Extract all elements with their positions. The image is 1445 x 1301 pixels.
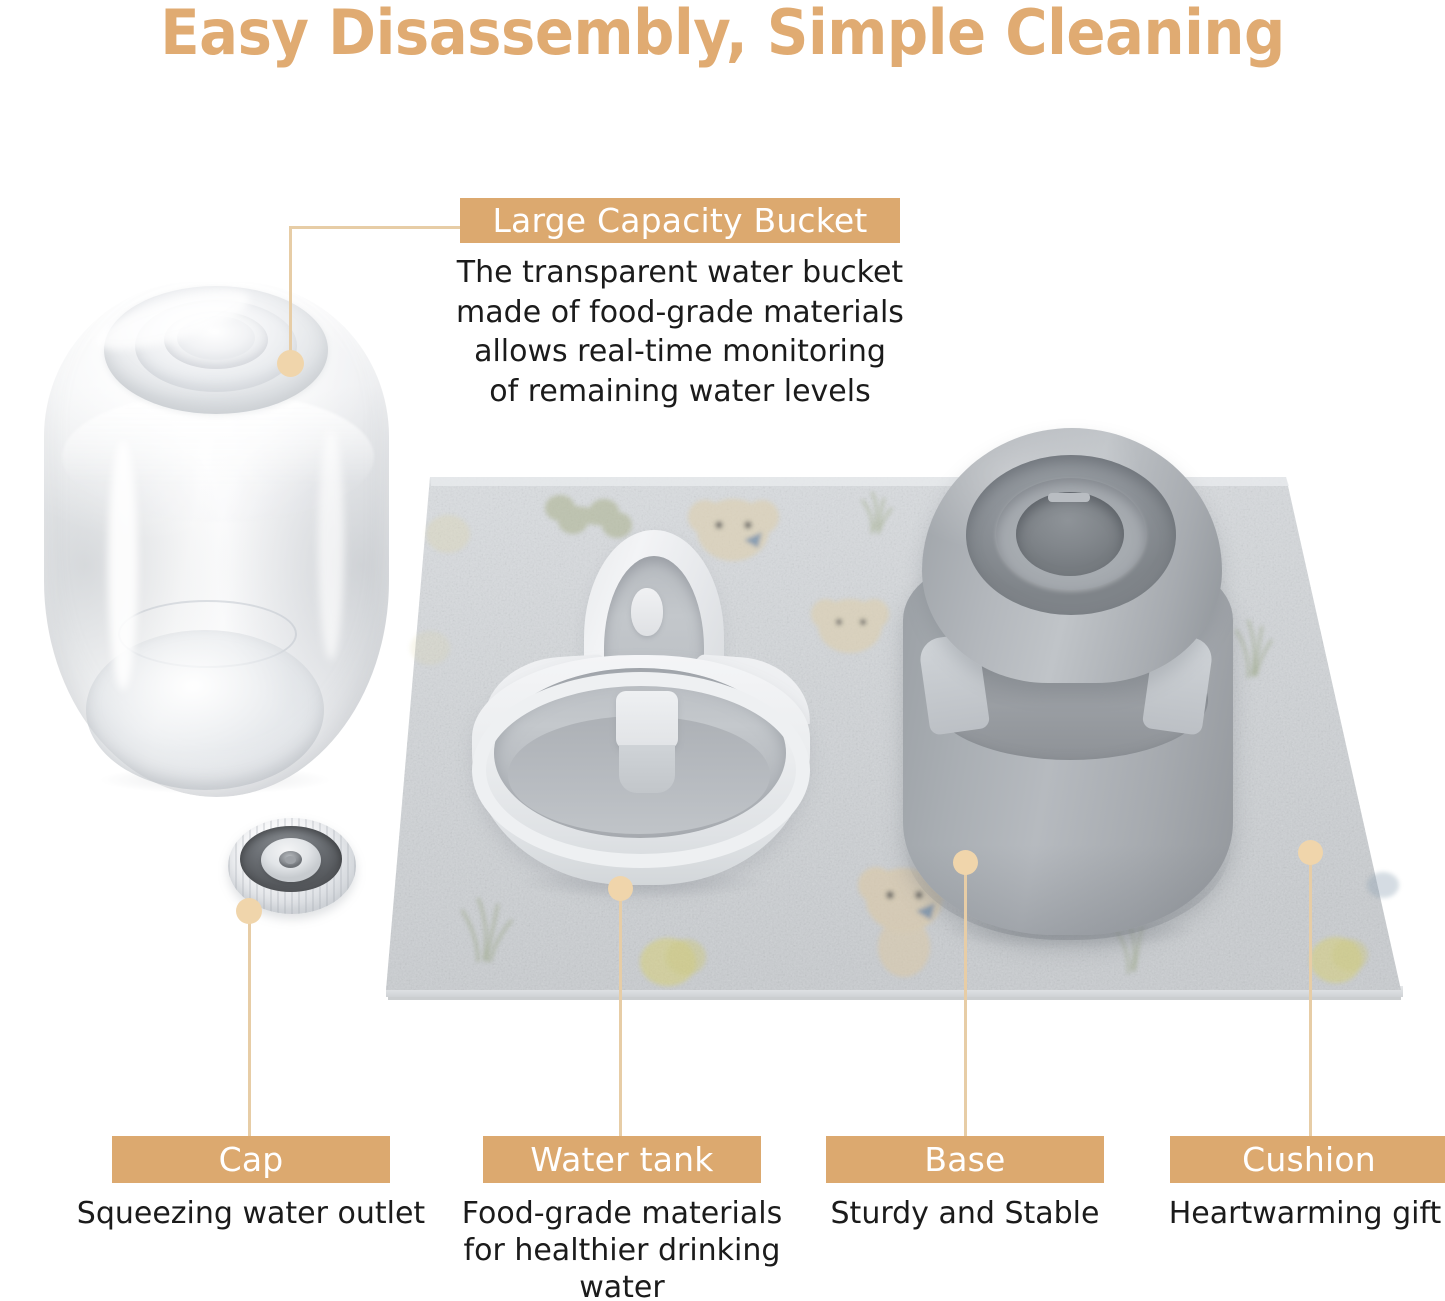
- callout-body-bucket-line-3: allows real-time monitoring: [440, 332, 920, 372]
- leader-line-bucket-horizontal: [289, 226, 464, 229]
- callout-label-base[interactable]: Base: [826, 1136, 1104, 1183]
- callout-label-bucket-text: Large Capacity Bucket: [492, 204, 867, 237]
- callout-caption-cap: Squeezing water outlet: [70, 1196, 432, 1233]
- cap-outlet-hole-inner: [285, 856, 296, 864]
- leader-dot-water-tank: [608, 876, 633, 901]
- callout-body-bucket-line-4: of remaining water levels: [440, 372, 920, 412]
- callout-caption-water-tank-line-2: for healthier drinking: [452, 1233, 792, 1270]
- callout-label-cushion[interactable]: Cushion: [1170, 1136, 1445, 1183]
- callout-caption-water-tank-line-3: water: [452, 1270, 792, 1301]
- leader-line-cap: [248, 910, 251, 1136]
- bucket-highlight-right: [318, 430, 344, 660]
- callout-label-bucket[interactable]: Large Capacity Bucket: [460, 198, 900, 243]
- callout-caption-cushion-line-1: Heartwarming gift: [1160, 1196, 1445, 1233]
- callout-caption-water-tank-line-1: Food-grade materials: [452, 1196, 792, 1233]
- callout-label-water-tank-text: Water tank: [530, 1143, 713, 1176]
- callout-label-cap[interactable]: Cap: [112, 1136, 390, 1183]
- callout-caption-cap-line-1: Squeezing water outlet: [70, 1196, 432, 1233]
- infographic-canvas: Easy Disassembly, Simple Cleaning: [0, 0, 1445, 1301]
- base-center-hole: [1016, 492, 1124, 576]
- callout-label-cushion-text: Cushion: [1242, 1143, 1376, 1176]
- callout-caption-base-line-1: Sturdy and Stable: [810, 1196, 1120, 1233]
- leader-dot-base: [953, 850, 978, 875]
- water-tank-center-tab-lower: [619, 745, 675, 793]
- callout-caption-cushion: Heartwarming gift: [1160, 1196, 1445, 1233]
- callout-label-base-text: Base: [924, 1143, 1005, 1176]
- water-tank-stud: [631, 588, 663, 636]
- callout-caption-base: Sturdy and Stable: [810, 1196, 1120, 1233]
- callout-body-bucket-line-2: made of food-grade materials: [440, 293, 920, 333]
- water-tank-center-tab: [616, 691, 678, 749]
- leader-dot-bucket: [277, 350, 304, 377]
- base-notch: [1048, 493, 1090, 502]
- leader-dot-cushion: [1298, 840, 1323, 865]
- leader-line-base: [964, 862, 967, 1136]
- callout-caption-water-tank: Food-grade materials for healthier drink…: [452, 1196, 792, 1301]
- callout-label-cap-text: Cap: [219, 1143, 284, 1176]
- leader-dot-cap: [236, 898, 262, 924]
- leader-line-water-tank: [619, 888, 622, 1136]
- leader-line-bucket-vertical: [289, 226, 292, 364]
- callout-label-water-tank[interactable]: Water tank: [483, 1136, 761, 1183]
- callout-body-bucket: The transparent water bucket made of foo…: [440, 253, 920, 411]
- leader-line-cushion: [1309, 852, 1312, 1136]
- callout-body-bucket-line-1: The transparent water bucket: [440, 253, 920, 293]
- bucket-highlight-left: [108, 440, 138, 690]
